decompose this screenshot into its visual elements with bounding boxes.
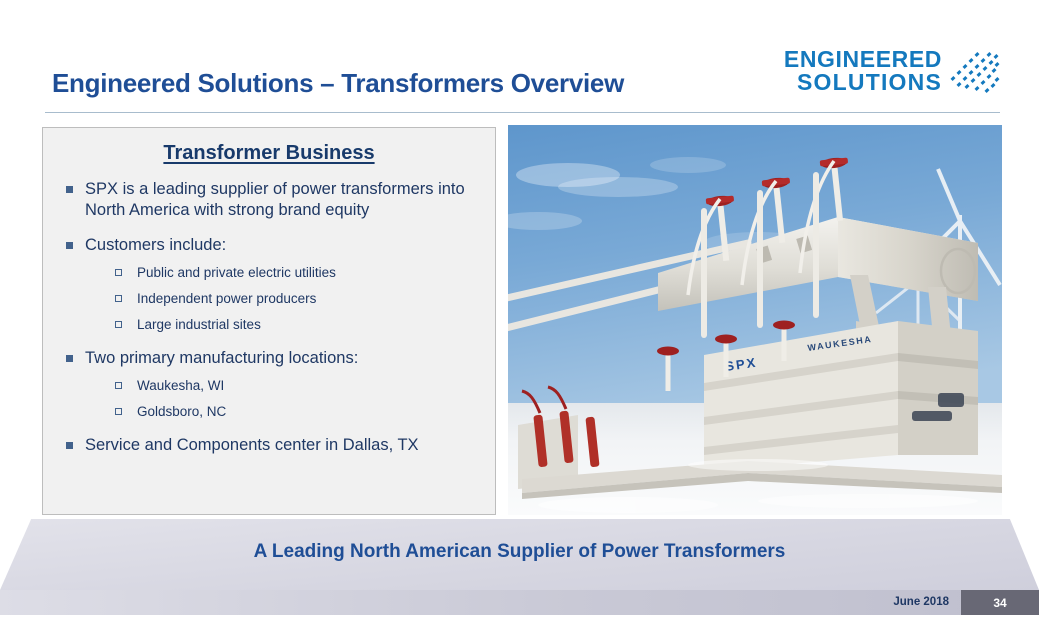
bullet-item: Customers include: Public and private el… [59,235,481,334]
sub-bullet-list: Waukesha, WI Goldsboro, NC [85,378,481,421]
bullet-item: SPX is a leading supplier of power trans… [59,179,481,221]
footer-date: June 2018 [893,596,949,608]
title-divider [45,112,1000,113]
sub-bullet-text: Large industrial sites [137,317,261,332]
sub-bullet-item: Public and private electric utilities [113,265,481,282]
transformer-business-panel: Transformer Business SPX is a leading su… [42,127,496,515]
slide-footer: June 2018 34 [0,590,1039,615]
photo-illustration: SPX WAUKESHA [508,125,1002,515]
logo-line-1: ENGINEERED [784,48,942,71]
square-bullet-icon [66,186,73,193]
square-bullet-icon [66,242,73,249]
bullet-text: Customers include: [85,236,226,254]
slide-page-number: 34 [961,590,1039,615]
summary-banner: A Leading North American Supplier of Pow… [0,519,1039,590]
bullet-text: Service and Components center in Dallas,… [85,436,419,454]
sub-bullet-text: Waukesha, WI [137,378,224,393]
bullet-text: SPX is a leading supplier of power trans… [85,180,465,219]
sub-bullet-text: Public and private electric utilities [137,265,336,280]
sub-bullet-list: Public and private electric utilities In… [85,265,481,334]
sub-bullet-text: Independent power producers [137,291,316,306]
hollow-square-bullet-icon [115,408,122,415]
bullet-item: Service and Components center in Dallas,… [59,435,481,456]
hollow-square-bullet-icon [115,321,122,328]
bullet-list: SPX is a leading supplier of power trans… [43,179,495,456]
hollow-square-bullet-icon [115,269,122,276]
sub-bullet-item: Waukesha, WI [113,378,481,395]
sub-bullet-text: Goldsboro, NC [137,404,226,419]
bullet-item: Two primary manufacturing locations: Wau… [59,348,481,421]
presentation-slide: Engineered Solutions – Transformers Over… [0,0,1039,635]
sub-bullet-item: Goldsboro, NC [113,404,481,421]
panel-heading: Transformer Business [43,142,495,165]
sub-bullet-item: Large industrial sites [113,317,481,334]
engineered-solutions-logo: ENGINEERED SOLUTIONS [784,47,1001,95]
square-bullet-icon [66,355,73,362]
page-title: Engineered Solutions – Transformers Over… [52,68,624,99]
square-bullet-icon [66,442,73,449]
transformer-substation-photo: SPX WAUKESHA [508,125,1002,515]
bullet-text: Two primary manufacturing locations: [85,349,358,367]
sub-bullet-item: Independent power producers [113,291,481,308]
logo-line-2: SOLUTIONS [784,71,942,94]
banner-text: A Leading North American Supplier of Pow… [0,541,1039,563]
logo-text: ENGINEERED SOLUTIONS [784,48,942,95]
diagonal-hatch-mark-icon [949,47,1001,95]
hollow-square-bullet-icon [115,382,122,389]
hollow-square-bullet-icon [115,295,122,302]
